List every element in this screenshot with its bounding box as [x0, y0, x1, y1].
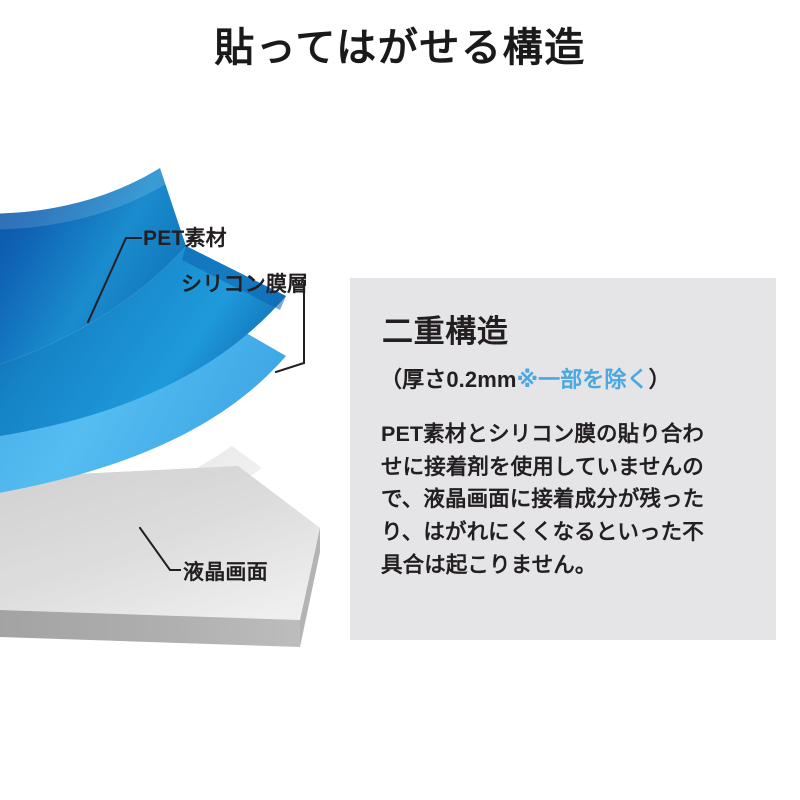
panel-subtitle-main: （厚さ0.2mm [380, 367, 517, 392]
panel-subtitle: （厚さ0.2mm※一部を除く） [380, 362, 671, 394]
label-lcd-screen: 液晶画面 [183, 556, 268, 586]
page-title: 貼ってはがせる構造 [0, 24, 800, 72]
page-root: 貼ってはがせる構造 [0, 0, 800, 800]
panel-subtitle-note: ※一部を除く [517, 367, 649, 392]
panel-subtitle-tail: ） [649, 367, 671, 392]
panel-heading: 二重構造 [382, 306, 508, 351]
panel-body-text: PET素材とシリコン膜の貼り合わせに接着剤を使用していませんので、液晶画面に接着… [381, 418, 711, 581]
label-pet-material: PET素材 [143, 222, 227, 252]
label-silicone-film: シリコン膜層 [181, 268, 308, 298]
info-panel: 二重構造 （厚さ0.2mm※一部を除く） PET素材とシリコン膜の貼り合わせに接… [350, 278, 776, 640]
